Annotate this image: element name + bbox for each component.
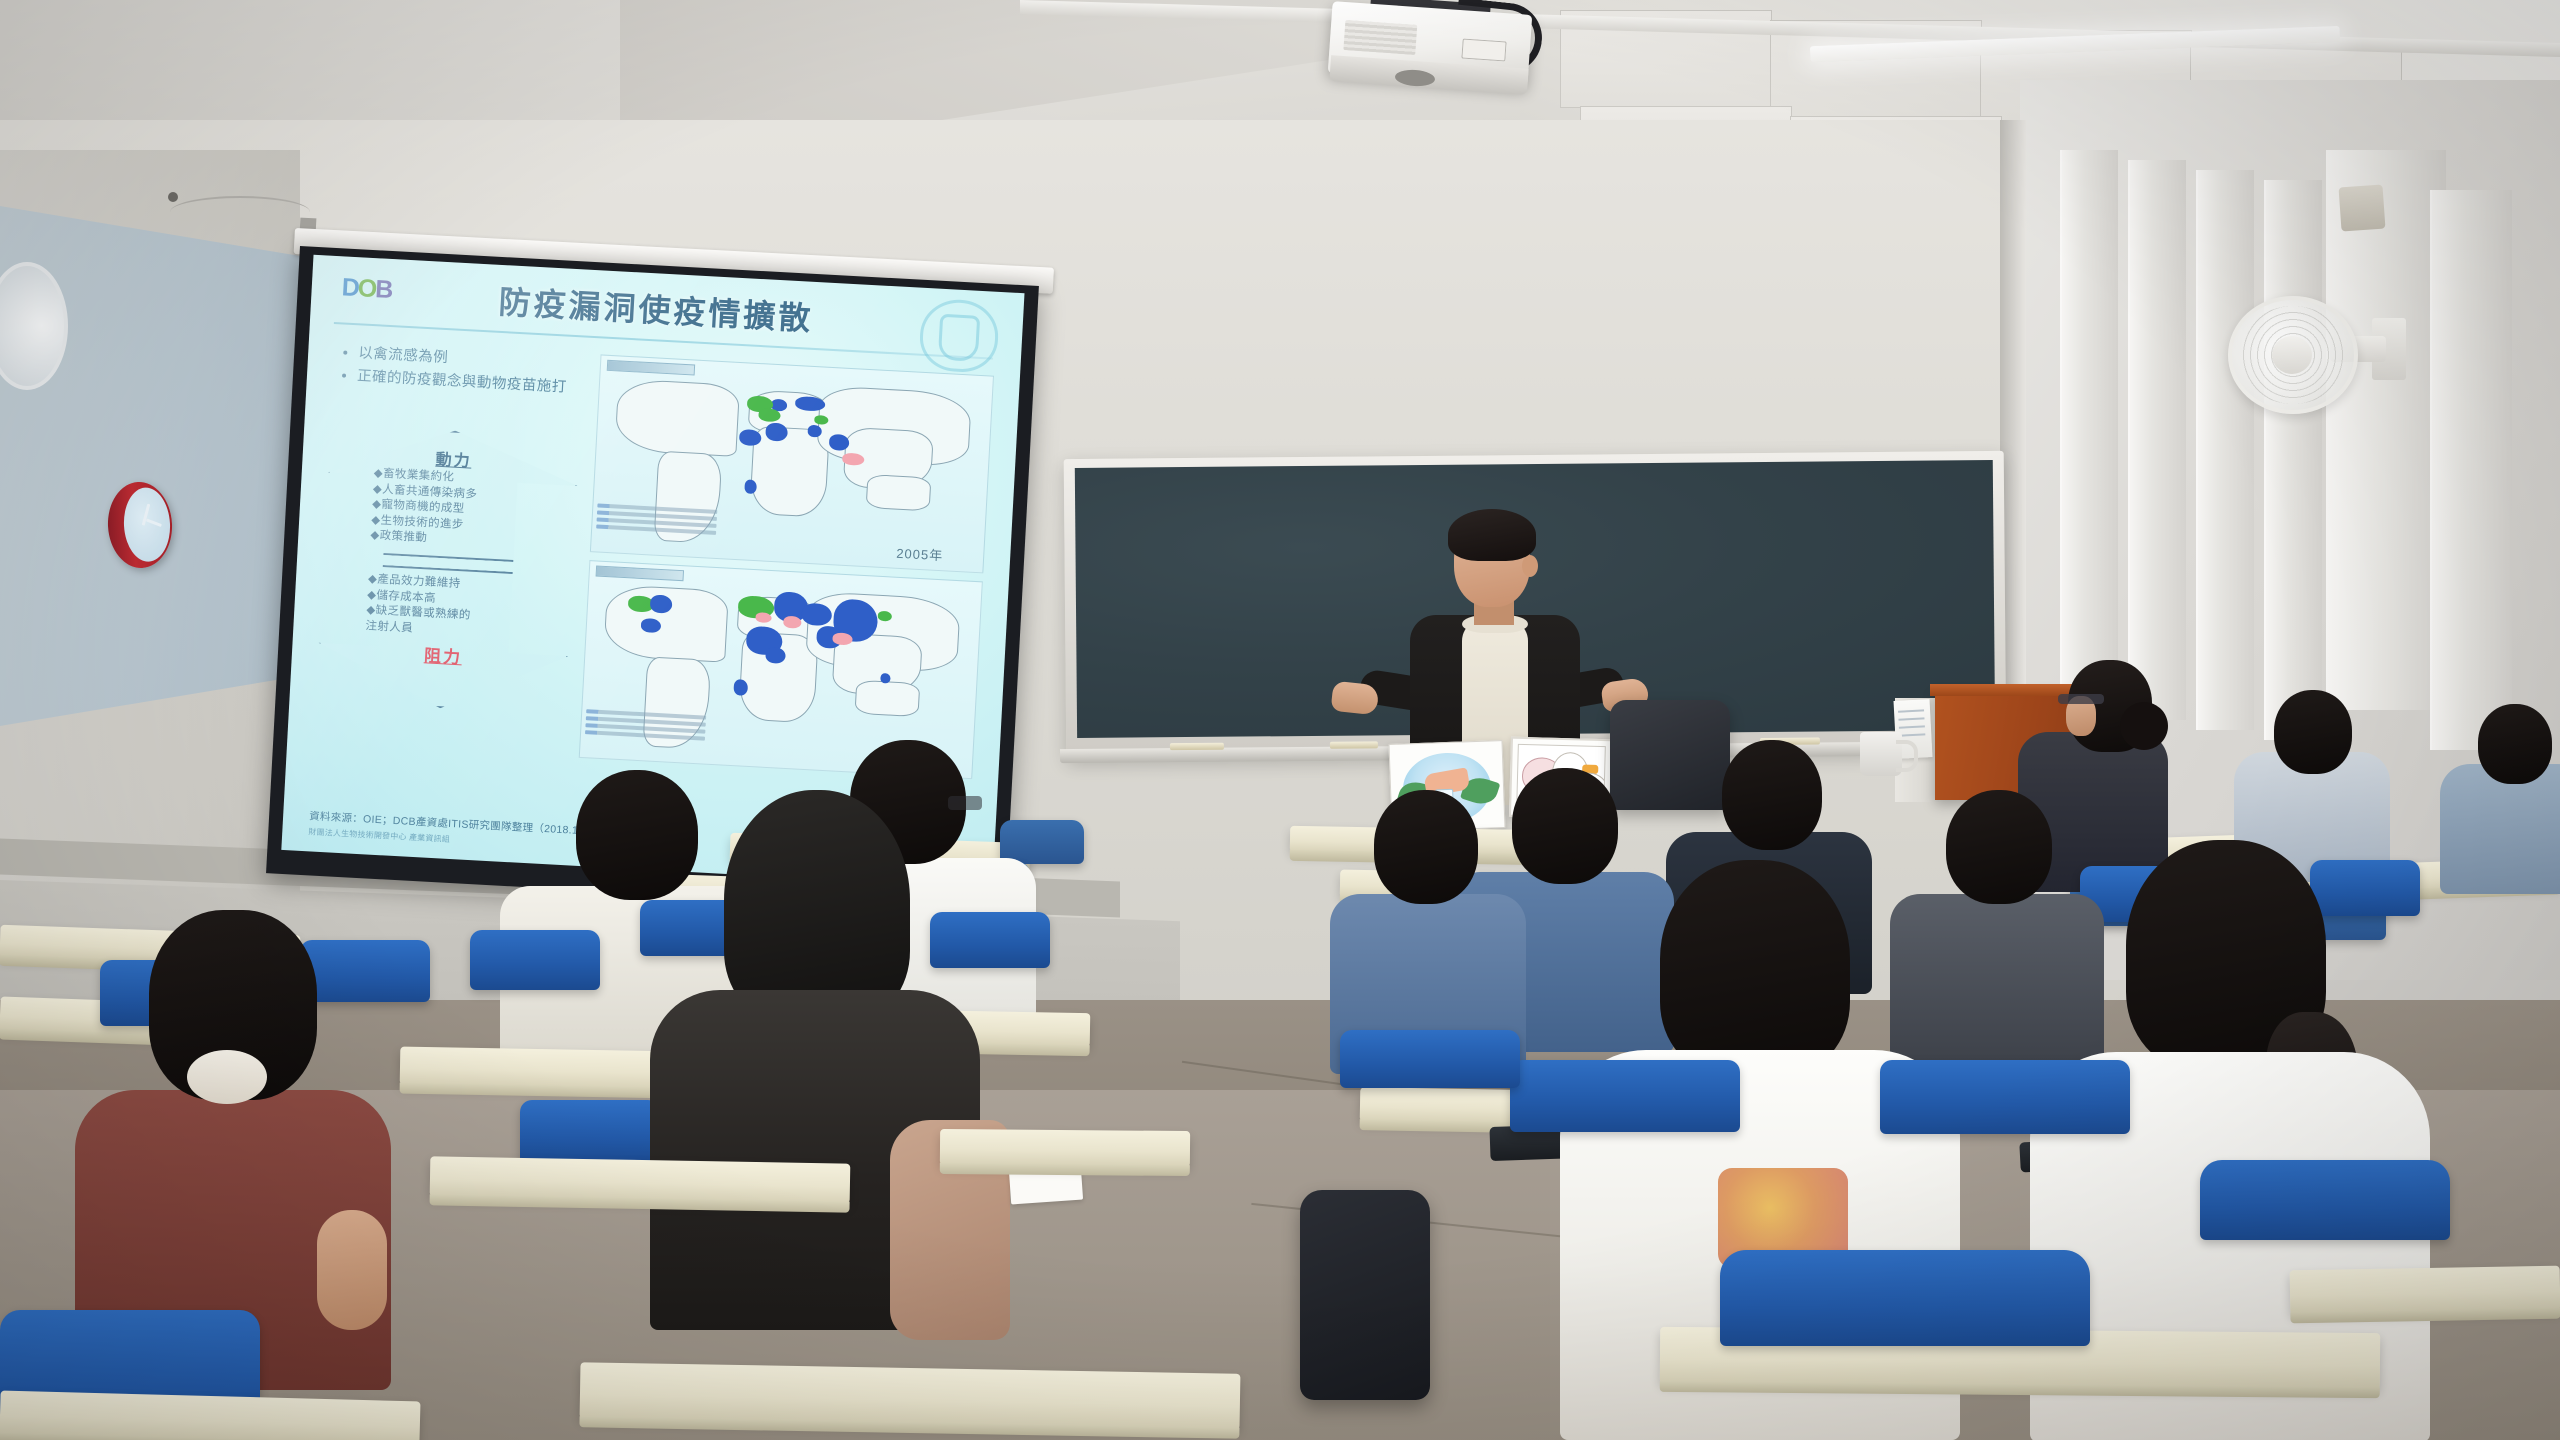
- wall-speaker: [2339, 185, 2386, 232]
- desk: [940, 1129, 1190, 1167]
- clock-face: [122, 486, 172, 562]
- chair[interactable]: [1720, 1250, 2090, 1346]
- chair[interactable]: [1880, 1060, 2130, 1134]
- presenter-ear: [1522, 555, 1538, 577]
- eyeglasses: [2058, 694, 2104, 704]
- pitcher-handle: [1896, 740, 1918, 772]
- dcb-logo: DOB: [341, 274, 414, 304]
- wall-panel: [2430, 190, 2512, 750]
- wall-panel: [2196, 170, 2254, 730]
- fan-hub: [2272, 336, 2312, 374]
- map-header-bar: [596, 565, 684, 581]
- wall-panel: [2264, 180, 2322, 740]
- student: [650, 790, 980, 1320]
- screen-support-wire: [170, 196, 310, 228]
- backpack: [1300, 1190, 1430, 1400]
- chair[interactable]: [470, 930, 600, 990]
- barrier-arrow-diagram: ◆產品效力難維持 ◆儲存成本高 ◆缺乏獸醫或熟練的 注射人員 阻力: [315, 562, 572, 715]
- chair[interactable]: [2200, 1160, 2450, 1240]
- wall-panel: [2128, 160, 2186, 720]
- map-header-bar: [607, 360, 695, 376]
- wall-panel: [2060, 150, 2118, 710]
- desk: [580, 1362, 1241, 1430]
- hair-scrunchie: [187, 1050, 267, 1104]
- classroom-photo: DOB 防疫漏洞使疫情擴散 以禽流感為例 正確的防疫觀念與動物疫苗施打 動力 ◆…: [0, 0, 2560, 1440]
- slide-watermark-emblem: [918, 298, 1000, 374]
- map-year-label: 2005年: [896, 543, 944, 565]
- hair-bun: [2120, 702, 2168, 750]
- projector-ports: [1461, 38, 1506, 61]
- slide-bullet-list: 以禽流感為例 正確的防疫觀念與動物疫苗施打: [340, 342, 572, 400]
- chair[interactable]: [1510, 1060, 1740, 1132]
- map-legend: [595, 503, 717, 551]
- map-legend: [584, 709, 706, 757]
- driver-items: ◆畜牧業集約化 ◆人畜共通傳染病多 ◆寵物商機的成型 ◆生物技術的進步 ◆政策推…: [370, 466, 574, 554]
- driver-arrow-diagram: 動力 ◆畜牧業集約化 ◆人畜共通傳染病多 ◆寵物商機的成型 ◆生物技術的進步 ◆…: [324, 424, 581, 565]
- wall-fan: [2228, 296, 2358, 414]
- chair[interactable]: [1340, 1030, 1520, 1088]
- window-curtain: [2326, 150, 2446, 710]
- student: [1330, 790, 1530, 1070]
- chair[interactable]: [520, 1100, 660, 1164]
- student: [2440, 700, 2560, 890]
- barrier-items: ◆產品效力難維持 ◆儲存成本高 ◆缺乏獸醫或熟練的 注射人員: [365, 572, 568, 645]
- projector-vent: [1343, 20, 1417, 55]
- slide-title: 防疫漏洞使疫情擴散: [420, 275, 892, 346]
- presenter-hair: [1448, 509, 1536, 561]
- world-map-2005: 2005年: [590, 354, 994, 573]
- desk: [2290, 1266, 2560, 1315]
- screen-wire-hook: [168, 192, 178, 202]
- desk: [430, 1156, 851, 1203]
